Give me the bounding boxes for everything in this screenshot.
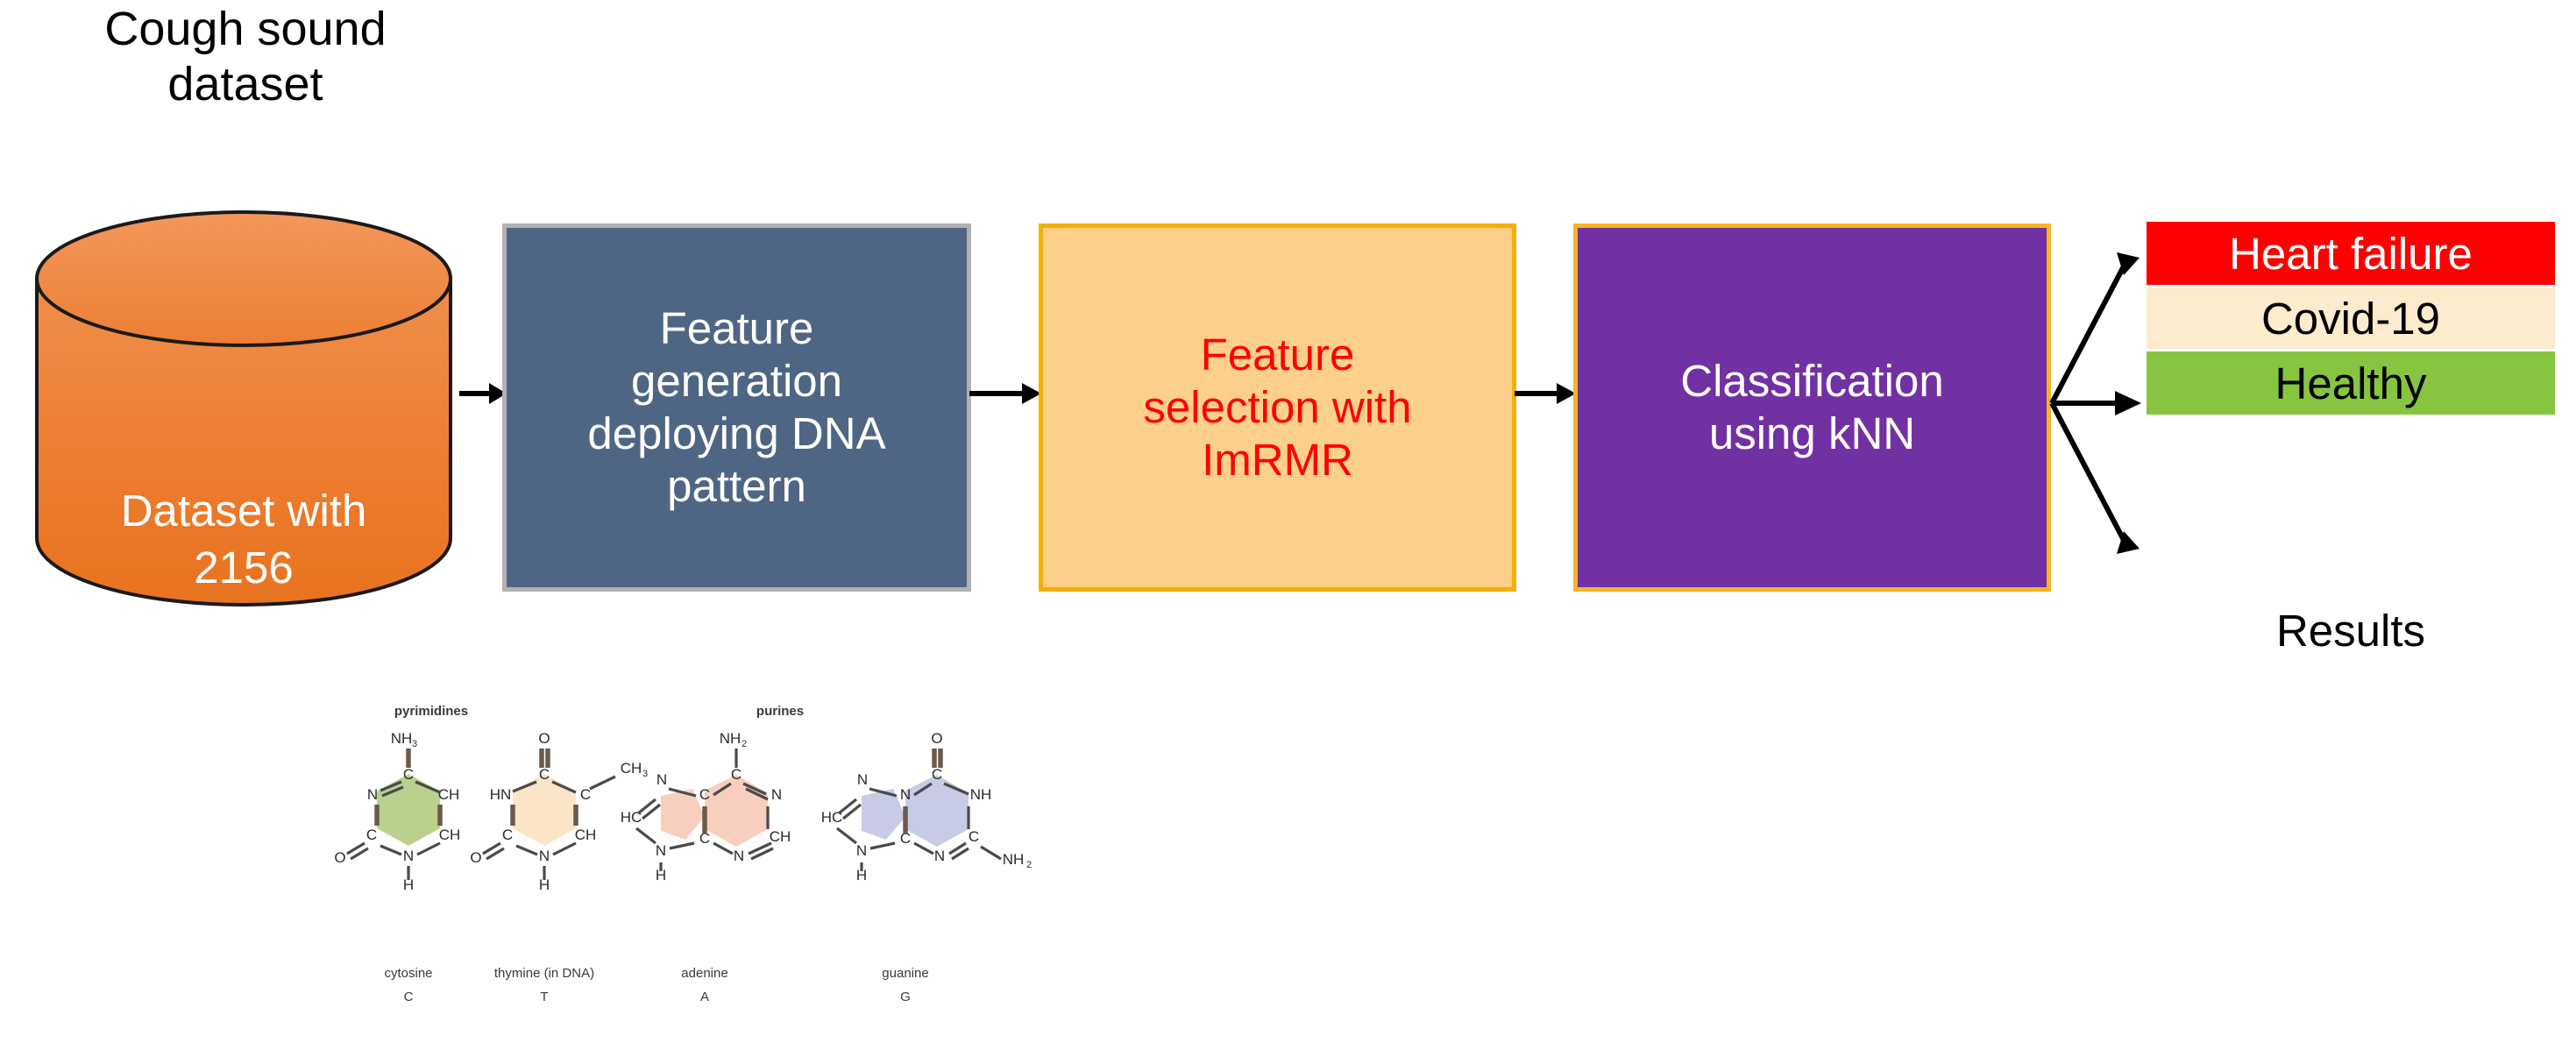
atom-label-ch-right-bottom: CH: [439, 827, 461, 843]
dna-base-name-guanine: guanine: [882, 966, 928, 981]
atom-label-c-right-bottom: C: [969, 828, 979, 845]
atom-label-c-right-top: C: [580, 786, 591, 803]
atom-label-nh-right: NH: [970, 786, 992, 803]
result-item-healthy[interactable]: Healthy: [2147, 351, 2555, 415]
atom-label-n-center-top: N: [900, 786, 911, 803]
dna-base-name-adenine: adenine: [681, 966, 727, 981]
atom-label-n-lower-left: N: [856, 842, 867, 859]
dna-base-thymine: O C HN C CH 3 C CH O N H thymine (in: [470, 730, 648, 1004]
results-stack: Heart failure Covid-19 Healthy: [2147, 222, 2555, 415]
dna-base-letter-guanine: G: [900, 990, 911, 1004]
atom-label-c-left-bottom: C: [366, 827, 377, 843]
atom-label-nh2-sub: 2: [1026, 860, 1032, 870]
stage-classification[interactable]: Classification using kNN: [1573, 223, 2051, 592]
dna-group-heading-purines: purines: [756, 704, 804, 719]
dataset-cylinder: Dataset with 2156 observations: [25, 210, 463, 607]
arrow-feature-selection-to-classification: [1515, 379, 1578, 408]
atom-label-c-center-top: C: [699, 786, 710, 803]
page-title: Cough sound dataset: [53, 2, 438, 111]
dna-base-guanine: O C N N NH HC C C NH 2 N N H: [821, 730, 1032, 1004]
dna-base-letter-adenine: A: [700, 990, 709, 1004]
atom-label-n-bottom: N: [403, 848, 414, 864]
arrow-feature-generation-to-feature-selection: [969, 379, 1043, 408]
dna-bases-figure: pyrimidines purines NH 3 C N CH C CH O N…: [289, 692, 1131, 1043]
atom-label-c-top: C: [403, 766, 414, 783]
atom-label-c-top: C: [731, 766, 742, 783]
atom-label-n-bottom: N: [934, 848, 945, 864]
dna-base-letter-thymine: T: [540, 990, 548, 1004]
result-label-heart-failure: Heart failure: [2229, 231, 2473, 276]
result-label-healthy: Healthy: [2275, 361, 2427, 406]
atom-label-nh2: NH: [1003, 851, 1025, 868]
atom-label-c-top: C: [539, 766, 550, 783]
atom-label-ch: CH: [770, 828, 791, 845]
atom-label-c-top: C: [932, 766, 942, 783]
atom-label-n-bottom: N: [734, 848, 744, 864]
atom-label-n-bottom: N: [539, 848, 550, 864]
stage-feature-generation-label: Feature generation deploying DNA pattern: [587, 302, 885, 514]
atom-label-hn: HN: [490, 786, 512, 803]
atom-label-ch3-sub: 3: [642, 769, 648, 779]
atom-label-o: O: [334, 849, 345, 866]
dna-base-name-thymine: thymine (in DNA): [494, 966, 594, 981]
arrow-dataset-to-feature-generation: [459, 379, 508, 408]
atom-label-n-right: N: [771, 786, 782, 803]
stage-feature-selection-label: Feature selection with ImRMR: [1143, 329, 1411, 487]
atom-label-o-left: O: [470, 849, 481, 866]
atom-label-n-upper-left: N: [857, 771, 868, 788]
stage-feature-selection[interactable]: Feature selection with ImRMR: [1039, 223, 1516, 592]
stage-feature-generation[interactable]: Feature generation deploying DNA pattern: [502, 223, 971, 592]
atom-label-n-left: N: [367, 786, 378, 803]
result-item-covid-19[interactable]: Covid-19: [2147, 287, 2555, 349]
arrow-classification-to-results: [2048, 237, 2145, 570]
atom-label-nh: NH: [391, 730, 413, 747]
atom-label-o: O: [931, 730, 942, 747]
atom-label-ch-right-top: CH: [438, 786, 460, 803]
atom-label-nh-sub: 2: [742, 739, 747, 749]
dna-base-letter-cytosine: C: [404, 990, 414, 1004]
atom-label-nh: NH: [720, 730, 742, 747]
atom-label-n-upper-left: N: [656, 771, 667, 788]
stage-classification-label: Classification using kNN: [1680, 355, 1943, 460]
atom-label-o-top: O: [538, 730, 550, 747]
result-label-covid-19: Covid-19: [2261, 296, 2440, 341]
atom-label-ch-right-bottom: CH: [575, 827, 597, 843]
dna-base-cytosine: NH 3 C N CH C CH O N H cytosine C: [334, 730, 460, 1004]
atom-label-nh-sub: 3: [412, 739, 417, 749]
atom-label-ch3: CH: [621, 760, 642, 777]
dna-base-name-cytosine: cytosine: [384, 966, 432, 981]
dataset-cylinder-label: Dataset with 2156 observations: [25, 482, 463, 654]
atom-label-c-left-bottom: C: [502, 827, 513, 843]
dna-group-heading-pyrimidines: pyrimidines: [394, 704, 468, 719]
results-caption: Results: [2147, 605, 2555, 656]
atom-label-n-lower-left: N: [656, 842, 666, 859]
result-item-heart-failure[interactable]: Heart failure: [2147, 222, 2555, 285]
